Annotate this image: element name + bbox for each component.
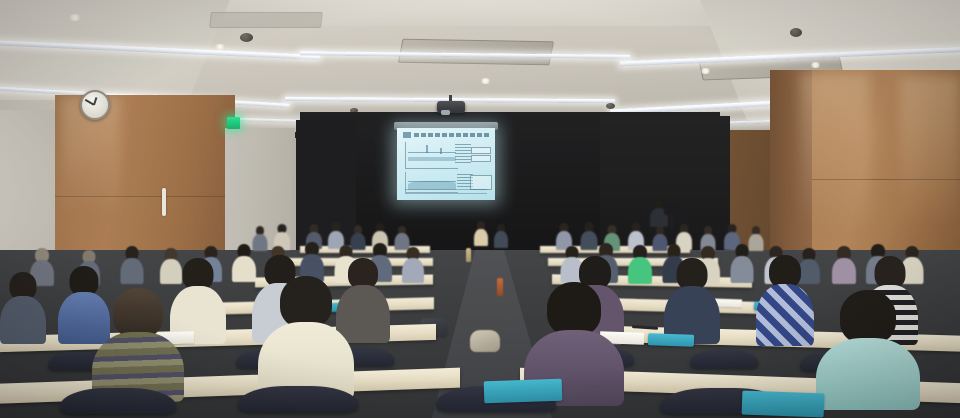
slide-legend-box: [471, 147, 491, 154]
head: [840, 290, 896, 344]
head: [113, 288, 163, 338]
teal-folder: [742, 391, 825, 418]
ceiling-downlight: [68, 14, 82, 21]
attendee: [0, 272, 46, 338]
attendee: [832, 246, 856, 282]
wall-clock: [80, 90, 110, 120]
front-row-attendee: [474, 221, 488, 245]
wall-light-wash: [900, 76, 960, 226]
ceiling-speaker-icon: [790, 28, 802, 37]
attendee: [730, 244, 753, 281]
graph-peak: [426, 145, 428, 153]
attendee: [120, 246, 143, 282]
attendee-mint-top: [816, 290, 920, 402]
water-bottle: [466, 248, 471, 262]
front-row-attendee: [494, 224, 508, 247]
slide-graph-upper: [405, 142, 458, 169]
lecture-hall-photograph: [0, 0, 960, 418]
torso: [120, 258, 143, 284]
torso: [832, 258, 856, 284]
torso: [494, 231, 508, 248]
torso: [0, 296, 46, 344]
ceiling-downlight: [480, 78, 491, 84]
door-handle[interactable]: [162, 188, 166, 216]
torso: [402, 258, 424, 283]
wall-light-wash: [800, 72, 870, 232]
chair[interactable]: [238, 386, 358, 412]
ceiling-downlight: [214, 44, 226, 50]
air-vent: [209, 12, 323, 28]
exit-sign-icon: [227, 117, 240, 129]
torso: [756, 284, 814, 346]
attendee-patterned-top: [756, 255, 814, 340]
water-bottle: [497, 278, 503, 296]
ceiling-downlight: [700, 68, 711, 74]
graph-line: [408, 181, 456, 182]
slide-title-badge: [403, 132, 411, 138]
slide-legend-box: [470, 175, 492, 190]
ceiling-speaker-icon: [606, 103, 615, 109]
video-camera-icon: [664, 206, 680, 215]
teal-folder: [648, 333, 694, 347]
attendee: [402, 247, 424, 281]
torso: [730, 256, 753, 283]
head: [547, 282, 601, 336]
graph-peak: [440, 148, 442, 154]
graph-area-band: [408, 157, 456, 161]
tripod-icon: [670, 215, 673, 229]
tote-bag: [470, 330, 500, 352]
torso: [816, 338, 920, 410]
attendee: [394, 226, 409, 249]
projector-lens-icon: [441, 110, 450, 115]
torso: [474, 229, 488, 246]
slide-title-text: [414, 133, 489, 137]
front-wall-left: [296, 120, 356, 260]
attendee-striped-shirt: [92, 288, 184, 392]
chair[interactable]: [60, 388, 176, 414]
graph-line: [408, 152, 456, 153]
projection-screen: [397, 128, 495, 200]
attendee: [664, 258, 720, 340]
head: [280, 276, 332, 328]
teal-folder: [484, 379, 563, 404]
slide-title-row: [403, 132, 489, 138]
torso: [628, 257, 652, 284]
slide-footnotes: [405, 189, 487, 196]
slide-legend-box: [471, 155, 491, 162]
ceiling-speaker-icon: [240, 33, 253, 42]
slide-legend-upper: [455, 144, 471, 164]
chair[interactable]: [690, 350, 758, 368]
attendee-cream-jacket: [258, 276, 354, 392]
ceiling-downlight: [810, 62, 821, 68]
attendee-green-sweater: [628, 245, 652, 282]
